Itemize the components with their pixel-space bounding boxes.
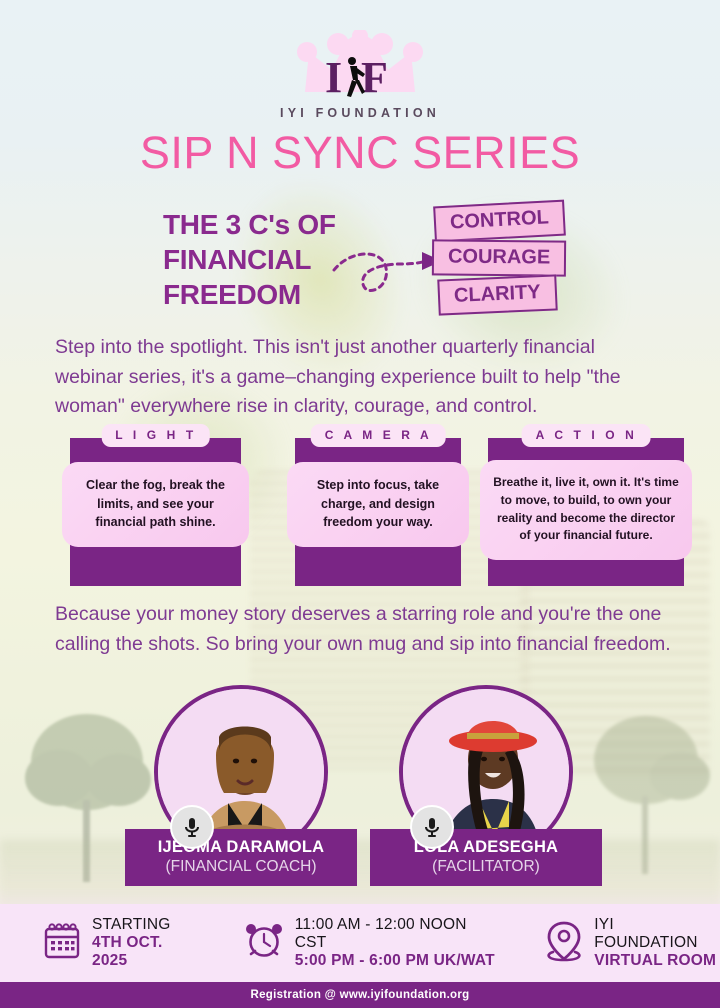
time-cst: 11:00 AM - 12:00 NOON CST [295,916,501,952]
speaker-name: LOLA ADESEGHA [374,838,598,857]
card-body-action: Breathe it, live it, own it. It's time t… [480,460,692,560]
speaker-card-ijeoma-daramola: IJEOMA DARAMOLA (FINANCIAL COACH) [125,685,357,859]
card-body-light: Clear the fog, break the limits, and see… [62,462,249,547]
page-title: SIP N SYNC SERIES [0,127,720,179]
card-body-camera: Step into focus, take charge, and design… [287,462,469,547]
crown-icon: I F [295,30,425,102]
event-flyer: I F IYI FOUNDATION SIP N SYNC SERIES THE… [0,0,720,1008]
keyword-box-clarity: CLARITY [437,274,557,315]
calendar-icon [42,921,82,966]
speaker-name-bar: IJEOMA DARAMOLA (FINANCIAL COACH) [125,829,357,886]
event-details-bar: STARTING 4TH OCT. 2025 11:00 AM - 12:00 … [0,904,720,982]
card-badge-light: L I G H T [101,424,210,447]
lca-card-group: L I G H T Clear the fog, break the limit… [0,424,720,589]
registration-text: Registration @ www.iyifoundation.org [250,989,469,1001]
svg-text:F: F [361,53,388,102]
speaker-role: (FINANCIAL COACH) [129,858,353,876]
venue-detail: VIRTUAL ROOM [594,952,720,970]
svg-text:I: I [325,53,342,102]
microphone-icon [410,805,454,849]
time-ukwat: 5:00 PM - 6:00 PM UK/WAT [295,952,501,970]
background-ground [0,840,720,910]
card-badge-action: A C T I O N [522,424,651,447]
logo-text: IYI FOUNDATION [0,106,720,120]
alarm-clock-icon [243,920,285,967]
speaker-role: (FACILITATOR) [374,858,598,876]
speaker-card-lola-adesegha: LOLA ADESEGHA (FACILITATOR) [370,685,602,859]
speaker-name: IJEOMA DARAMOLA [129,838,353,857]
speaker-name-bar: LOLA ADESEGHA (FACILITATOR) [370,829,602,886]
date-value: 4TH OCT. 2025 [92,934,201,970]
card-badge-camera: C A M E R A [311,424,446,447]
microphone-icon [170,805,214,849]
registration-bar[interactable]: Registration @ www.iyifoundation.org [0,982,720,1008]
event-date: STARTING 4TH OCT. 2025 [42,916,201,970]
logo: I F IYI FOUNDATION [0,30,720,120]
event-time: 11:00 AM - 12:00 NOON CST 5:00 PM - 6:00… [243,916,501,970]
intro-paragraph: Step into the spotlight. This isn't just… [55,333,655,422]
closing-paragraph: Because your money story deserves a star… [55,600,675,659]
keyword-box-courage: COURAGE [432,239,567,276]
location-pin-icon [544,919,584,968]
venue-name: IYI FOUNDATION [594,916,720,952]
keyword-box-control: CONTROL [433,200,566,243]
event-venue: IYI FOUNDATION VIRTUAL ROOM [544,916,720,970]
date-label: STARTING [92,916,201,934]
